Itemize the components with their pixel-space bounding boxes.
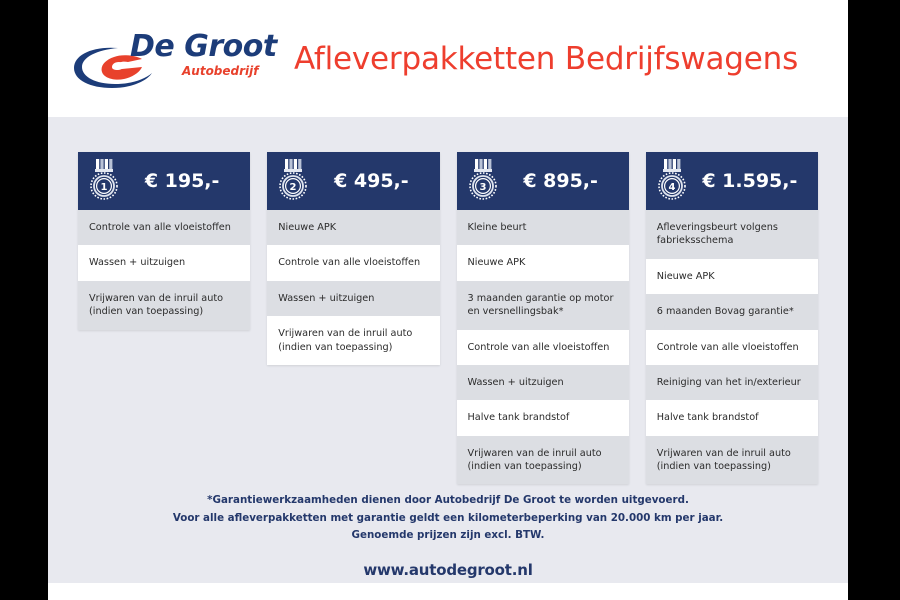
package-price: € 495,- bbox=[309, 170, 439, 192]
package-card-header: 2 € 495,- bbox=[267, 152, 439, 210]
package-card-header: 4 € 1.595,- bbox=[646, 152, 818, 210]
package-item: Wassen + uitzuigen bbox=[267, 281, 439, 316]
package-item-label: Vrijwaren van de inruil auto (indien van… bbox=[89, 292, 223, 319]
package-item-label: Wassen + uitzuigen bbox=[468, 376, 564, 389]
package-item: Kleine beurt bbox=[457, 210, 629, 245]
medal-rank: 1 bbox=[101, 182, 108, 193]
package-item: Controle van alle vloeistoffen bbox=[78, 210, 250, 245]
package-price: € 1.595,- bbox=[688, 170, 818, 192]
package-item: Vrijwaren van de inruil auto (indien van… bbox=[78, 281, 250, 330]
package-item: Vrijwaren van de inruil auto (indien van… bbox=[267, 316, 439, 365]
package-item-label: 3 maanden garantie op motor en versnelli… bbox=[468, 292, 614, 319]
logo-subtitle: Autobedrijf bbox=[182, 64, 259, 78]
package-item-label: Wassen + uitzuigen bbox=[278, 292, 374, 305]
package-item-label: Nieuwe APK bbox=[278, 221, 336, 234]
medal-rank: 4 bbox=[668, 182, 675, 193]
package-item-list: Controle van alle vloeistoffen Wassen + … bbox=[78, 210, 250, 330]
package-item: Wassen + uitzuigen bbox=[457, 365, 629, 400]
package-item: Afleveringsbeurt volgens fabrieksschema bbox=[646, 210, 818, 259]
screenshot-stage: De Groot Autobedrijf Afleverpakketten Be… bbox=[0, 0, 900, 600]
package-item: Reiniging van het in/exterieur bbox=[646, 365, 818, 400]
package-item-label: Nieuwe APK bbox=[468, 256, 526, 269]
package-item-list: Nieuwe APK Controle van alle vloeistoffe… bbox=[267, 210, 439, 365]
disclaimer-line-2: Voor alle afleverpakketten met garantie … bbox=[48, 510, 848, 528]
package-item-label: Controle van alle vloeistoffen bbox=[89, 221, 231, 234]
package-item-label: Reiniging van het in/exterieur bbox=[657, 376, 801, 389]
package-item-label: Nieuwe APK bbox=[657, 270, 715, 283]
package-item-label: Controle van alle vloeistoffen bbox=[468, 341, 610, 354]
package-item: Wassen + uitzuigen bbox=[78, 245, 250, 280]
package-item-label: Vrijwaren van de inruil auto (indien van… bbox=[278, 327, 412, 354]
package-item: Nieuwe APK bbox=[646, 259, 818, 294]
website-link[interactable]: www.autodegroot.nl bbox=[48, 561, 848, 579]
logo-wordmark: De Groot bbox=[130, 29, 277, 64]
package-card[interactable]: 1 € 195,- Controle van alle vloeistoffen… bbox=[78, 152, 250, 330]
bottom-white-strip bbox=[48, 583, 848, 600]
package-cards: 1 € 195,- Controle van alle vloeistoffen… bbox=[48, 152, 848, 484]
package-item-list: Afleveringsbeurt volgens fabrieksschema … bbox=[646, 210, 818, 484]
package-price: € 895,- bbox=[499, 170, 629, 192]
de-groot-logo: De Groot Autobedrijf bbox=[70, 19, 280, 99]
package-card-header: 3 € 895,- bbox=[457, 152, 629, 210]
package-item: Halve tank brandstof bbox=[457, 400, 629, 435]
poster-footer: *Garantiewerkzaamheden dienen door Autob… bbox=[48, 492, 848, 579]
medal-icon: 4 bbox=[656, 158, 688, 202]
package-card[interactable]: 3 € 895,- Kleine beurt Nieuwe APK 3 maan… bbox=[457, 152, 629, 484]
disclaimer-line-3: Genoemde prijzen zijn excl. BTW. bbox=[48, 527, 848, 545]
medal-rank: 3 bbox=[479, 182, 486, 193]
package-item-label: Vrijwaren van de inruil auto (indien van… bbox=[657, 447, 791, 474]
package-item: 3 maanden garantie op motor en versnelli… bbox=[457, 281, 629, 330]
package-item-label: Afleveringsbeurt volgens fabrieksschema bbox=[657, 221, 778, 248]
page-title: Afleverpakketten Bedrijfswagens bbox=[294, 41, 798, 77]
poster-header: De Groot Autobedrijf Afleverpakketten Be… bbox=[48, 0, 848, 117]
package-item: Vrijwaren van de inruil auto (indien van… bbox=[646, 436, 818, 485]
package-item: 6 maanden Bovag garantie* bbox=[646, 294, 818, 329]
package-item: Controle van alle vloeistoffen bbox=[646, 330, 818, 365]
package-item: Nieuwe APK bbox=[267, 210, 439, 245]
medal-icon: 3 bbox=[467, 158, 499, 202]
package-price: € 195,- bbox=[120, 170, 250, 192]
poster-content: De Groot Autobedrijf Afleverpakketten Be… bbox=[48, 0, 848, 600]
package-card-header: 1 € 195,- bbox=[78, 152, 250, 210]
package-item-list: Kleine beurt Nieuwe APK 3 maanden garant… bbox=[457, 210, 629, 484]
package-item-label: Halve tank brandstof bbox=[657, 411, 759, 424]
medal-icon: 1 bbox=[88, 158, 120, 202]
disclaimer-line-1: *Garantiewerkzaamheden dienen door Autob… bbox=[48, 492, 848, 510]
package-card[interactable]: 4 € 1.595,- Afleveringsbeurt volgens fab… bbox=[646, 152, 818, 484]
package-item-label: Controle van alle vloeistoffen bbox=[278, 256, 420, 269]
medal-rank: 2 bbox=[290, 182, 297, 193]
package-item: Vrijwaren van de inruil auto (indien van… bbox=[457, 436, 629, 485]
package-item: Controle van alle vloeistoffen bbox=[457, 330, 629, 365]
package-card[interactable]: 2 € 495,- Nieuwe APK Controle van alle v… bbox=[267, 152, 439, 365]
package-item: Nieuwe APK bbox=[457, 245, 629, 280]
package-item: Halve tank brandstof bbox=[646, 400, 818, 435]
package-item-label: Vrijwaren van de inruil auto (indien van… bbox=[468, 447, 602, 474]
package-item-label: Wassen + uitzuigen bbox=[89, 256, 185, 269]
package-item-label: Controle van alle vloeistoffen bbox=[657, 341, 799, 354]
package-item: Controle van alle vloeistoffen bbox=[267, 245, 439, 280]
medal-icon: 2 bbox=[277, 158, 309, 202]
package-item-label: 6 maanden Bovag garantie* bbox=[657, 305, 794, 318]
package-item-label: Kleine beurt bbox=[468, 221, 527, 234]
package-item-label: Halve tank brandstof bbox=[468, 411, 570, 424]
